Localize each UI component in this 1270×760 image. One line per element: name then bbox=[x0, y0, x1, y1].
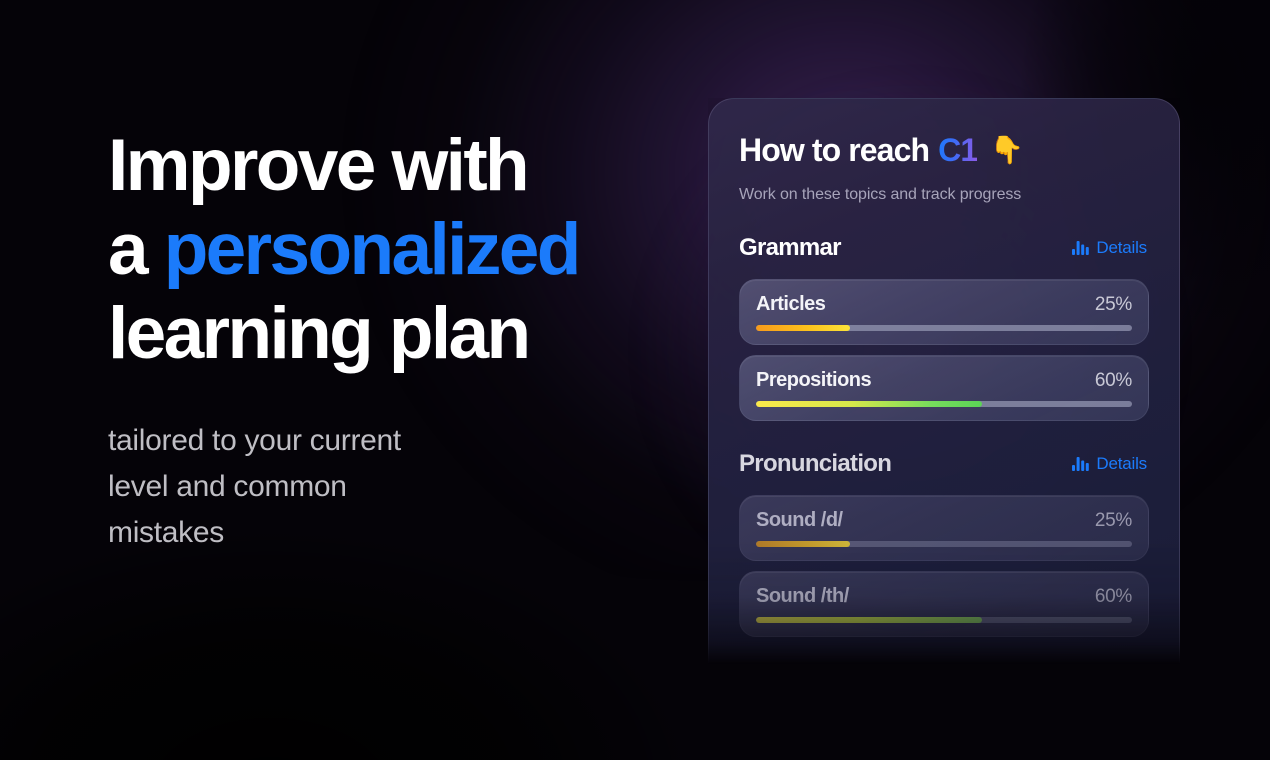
progress-fill bbox=[756, 617, 982, 623]
bar-chart-icon bbox=[1072, 456, 1089, 471]
topic-percent: 25% bbox=[1095, 510, 1132, 532]
progress-track bbox=[756, 541, 1132, 547]
topic-row-prepositions[interactable]: Prepositions 60% bbox=[739, 355, 1149, 421]
section-title-grammar: Grammar bbox=[739, 233, 841, 262]
topic-percent: 25% bbox=[1095, 294, 1132, 316]
section-pronunciation: Pronunciation Details bbox=[739, 449, 1149, 637]
details-link-grammar[interactable]: Details bbox=[1072, 238, 1147, 258]
page-title: Improve witha personalizedlearning plan bbox=[108, 124, 668, 376]
section-title-pronunciation: Pronunciation bbox=[739, 449, 891, 478]
card-title: How to reach C1 👇 bbox=[739, 131, 1149, 169]
details-label-grammar: Details bbox=[1096, 238, 1147, 258]
topic-label: Sound /th/ bbox=[756, 585, 849, 608]
progress-fill bbox=[756, 541, 850, 547]
headline-line-3: learning plan bbox=[108, 293, 529, 374]
card-subtitle: Work on these topics and track progress bbox=[739, 185, 1149, 205]
progress-track bbox=[756, 617, 1132, 623]
card-title-text: How to reach bbox=[739, 131, 929, 169]
progress-track bbox=[756, 401, 1132, 407]
headline-line-2-prefix: a bbox=[108, 209, 164, 290]
progress-fill bbox=[756, 401, 982, 407]
progress-track bbox=[756, 325, 1132, 331]
pointing-down-icon: 👇 bbox=[990, 137, 1023, 164]
topic-label: Sound /d/ bbox=[756, 509, 843, 532]
details-link-pronunciation[interactable]: Details bbox=[1072, 454, 1147, 474]
learning-plan-card-clip: How to reach C1 👇 Work on these topics a… bbox=[708, 98, 1180, 664]
learning-plan-card: How to reach C1 👇 Work on these topics a… bbox=[708, 98, 1180, 664]
bar-chart-icon bbox=[1072, 240, 1089, 255]
headline-accent-word: personalized bbox=[164, 209, 579, 290]
headline-line-1: Improve with bbox=[108, 125, 527, 206]
hero-copy: Improve witha personalizedlearning plan … bbox=[108, 124, 668, 556]
progress-fill bbox=[756, 325, 850, 331]
details-label-pronunciation: Details bbox=[1096, 454, 1147, 474]
topic-percent: 60% bbox=[1095, 586, 1132, 608]
topic-row-articles[interactable]: Articles 25% bbox=[739, 279, 1149, 345]
topic-row-sound-d[interactable]: Sound /d/ 25% bbox=[739, 495, 1149, 561]
section-grammar: Grammar Details bbox=[739, 233, 1149, 421]
target-level-badge: C1 bbox=[938, 131, 977, 169]
topic-label: Articles bbox=[756, 293, 825, 316]
topic-percent: 60% bbox=[1095, 370, 1132, 392]
topic-label: Prepositions bbox=[756, 369, 871, 392]
topic-row-sound-th[interactable]: Sound /th/ 60% bbox=[739, 571, 1149, 637]
hero-subtitle: tailored to your current level and commo… bbox=[108, 418, 668, 556]
